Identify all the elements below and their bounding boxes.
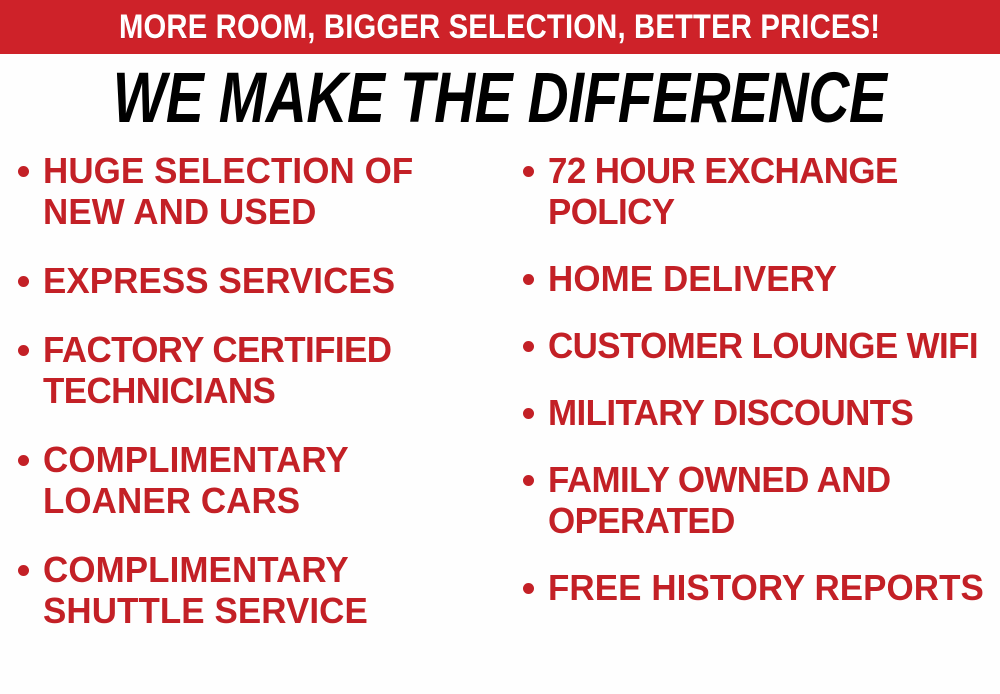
benefit-label-complimentary-loaner-cars: COMPLIMENTARY LOANER CARS: [43, 439, 487, 521]
list-item: COMPLIMENTARY LOANER CARS: [18, 439, 501, 521]
list-item: 72 HOUR EXCHANGE POLICY: [523, 150, 1000, 232]
bullet-dot-icon: [523, 583, 534, 594]
bullet-dot-icon: [523, 475, 534, 486]
benefit-label-free-history-reports: FREE HISTORY REPORTS: [548, 567, 986, 608]
list-item: CUSTOMER LOUNGE WIFI: [523, 325, 1000, 366]
banner-headline-text: MORE ROOM, BIGGER SELECTION, BETTER PRIC…: [119, 10, 880, 44]
bullet-dot-icon: [523, 408, 534, 419]
bullet-dot-icon: [523, 274, 534, 285]
bullet-dot-icon: [18, 455, 29, 466]
benefits-columns: HUGE SELECTION OF NEW AND USED EXPRESS S…: [0, 150, 1000, 694]
bullet-dot-icon: [523, 341, 534, 352]
headline-block: WE MAKE THE DIFFERENCE: [0, 60, 1000, 138]
bullet-dot-icon: [18, 166, 29, 177]
benefit-label-huge-selection: HUGE SELECTION OF NEW AND USED: [43, 150, 487, 232]
benefit-label-home-delivery: HOME DELIVERY: [548, 258, 986, 299]
list-item: FACTORY CERTIFIED TECHNICIANS: [18, 329, 501, 411]
bullet-dot-icon: [18, 345, 29, 356]
bullet-dot-icon: [523, 166, 534, 177]
bullet-dot-icon: [18, 565, 29, 576]
benefit-label-family-owned-and-operated: FAMILY OWNED AND OPERATED: [548, 459, 986, 541]
bullet-dot-icon: [18, 276, 29, 287]
benefit-label-factory-certified-technicians: FACTORY CERTIFIED TECHNICIANS: [43, 329, 487, 411]
benefit-label-customer-lounge-wifi: CUSTOMER LOUNGE WIFI: [548, 325, 986, 366]
benefits-column-left: HUGE SELECTION OF NEW AND USED EXPRESS S…: [0, 150, 505, 694]
list-item: COMPLIMENTARY SHUTTLE SERVICE: [18, 549, 501, 631]
benefit-label-complimentary-shuttle-service: COMPLIMENTARY SHUTTLE SERVICE: [43, 549, 487, 631]
benefit-label-military-discounts: MILITARY DISCOUNTS: [548, 392, 986, 433]
list-item: HUGE SELECTION OF NEW AND USED: [18, 150, 501, 232]
list-item: MILITARY DISCOUNTS: [523, 392, 1000, 433]
promotional-poster: MORE ROOM, BIGGER SELECTION, BETTER PRIC…: [0, 0, 1000, 694]
benefit-label-express-services: EXPRESS SERVICES: [43, 260, 487, 301]
benefits-column-right: 72 HOUR EXCHANGE POLICY HOME DELIVERY CU…: [505, 150, 1000, 694]
list-item: HOME DELIVERY: [523, 258, 1000, 299]
list-item: EXPRESS SERVICES: [18, 260, 501, 301]
list-item: FAMILY OWNED AND OPERATED: [523, 459, 1000, 541]
benefit-label-72-hour-exchange-policy: 72 HOUR EXCHANGE POLICY: [548, 150, 986, 232]
page-title: WE MAKE THE DIFFERENCE: [113, 63, 887, 135]
top-banner: MORE ROOM, BIGGER SELECTION, BETTER PRIC…: [0, 0, 1000, 54]
list-item: FREE HISTORY REPORTS: [523, 567, 1000, 608]
